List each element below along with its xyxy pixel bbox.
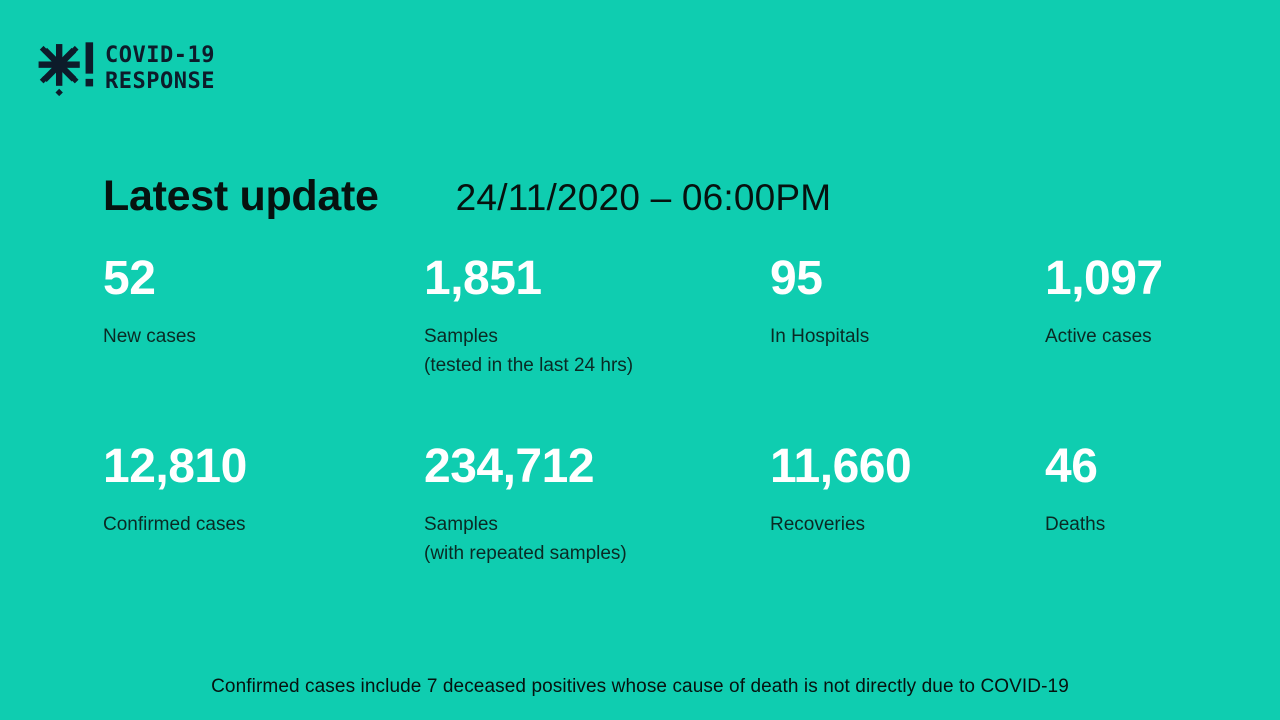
update-timestamp: 24/11/2020 – 06:00PM <box>456 177 832 219</box>
stats-row-primary: 52 New cases 1,851 Samples (tested in th… <box>0 255 1280 415</box>
stat-label: Samples <box>424 511 627 540</box>
stats-row-cumulative: 12,810 Confirmed cases 234,712 Samples (… <box>0 443 1280 603</box>
stat-label: Deaths <box>1045 511 1105 540</box>
stat-value: 52 <box>103 255 196 303</box>
stat-label: New cases <box>103 323 196 352</box>
stat-label: In Hospitals <box>770 323 869 352</box>
covid-update-slide: COVID-19 RESPONSE Latest update 24/11/20… <box>0 0 1280 720</box>
logo-line-covid19: COVID-19 <box>105 43 215 69</box>
stat-label: Samples <box>424 323 633 352</box>
stat-sublabel: (with repeated samples) <box>424 540 627 569</box>
page-title: Latest update <box>103 172 379 221</box>
stat-deaths: 46 Deaths <box>1045 443 1105 540</box>
stat-value: 12,810 <box>103 443 247 491</box>
stat-value: 95 <box>770 255 869 303</box>
footnote: Confirmed cases include 7 deceased posit… <box>0 676 1280 698</box>
stat-value: 46 <box>1045 443 1105 491</box>
stat-value: 11,660 <box>770 443 911 491</box>
stat-recoveries: 11,660 Recoveries <box>770 443 911 540</box>
stat-confirmed-cases: 12,810 Confirmed cases <box>103 443 247 540</box>
stat-sublabel: (tested in the last 24 hrs) <box>424 352 633 381</box>
stat-samples-repeated: 234,712 Samples (with repeated samples) <box>424 443 627 569</box>
stat-value: 1,097 <box>1045 255 1163 303</box>
stat-value: 234,712 <box>424 443 627 491</box>
covid-starburst-exclamation-icon <box>38 40 96 98</box>
stat-new-cases: 52 New cases <box>103 255 196 352</box>
stat-active-cases: 1,097 Active cases <box>1045 255 1163 352</box>
heading-row: Latest update 24/11/2020 – 06:00PM <box>103 172 831 221</box>
logo-wordmark: COVID-19 RESPONSE <box>105 43 215 95</box>
stat-samples-24hrs: 1,851 Samples (tested in the last 24 hrs… <box>424 255 633 381</box>
logo-line-response: RESPONSE <box>105 69 215 95</box>
stat-label: Active cases <box>1045 323 1163 352</box>
stat-label: Recoveries <box>770 511 911 540</box>
stat-label: Confirmed cases <box>103 511 247 540</box>
stat-in-hospitals: 95 In Hospitals <box>770 255 869 352</box>
stat-value: 1,851 <box>424 255 633 303</box>
covid19-response-logo: COVID-19 RESPONSE <box>38 40 215 98</box>
